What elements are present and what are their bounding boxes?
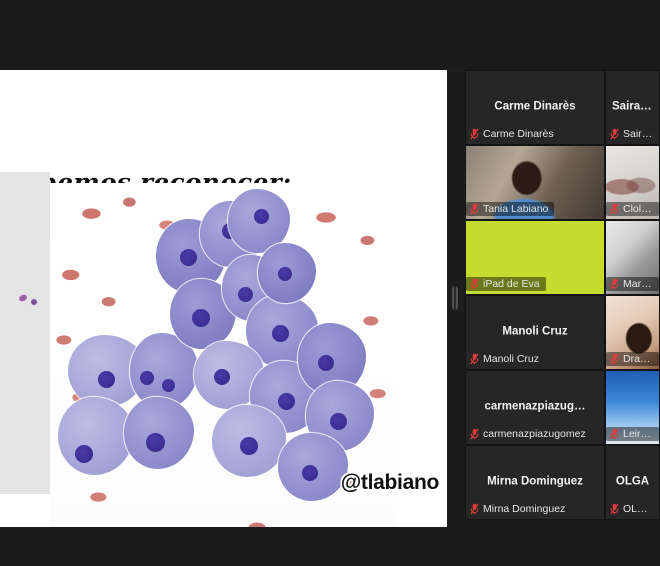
slide-left-panel (0, 172, 50, 494)
participant-tile[interactable]: Cloly Rivero (605, 145, 660, 220)
participant-display-name: Saira Ros (606, 100, 659, 112)
microphone-muted-icon (470, 353, 479, 365)
cell-nucleus (278, 267, 292, 281)
cell-nucleus (162, 379, 175, 392)
participant-name-label: Dra. Veróni (606, 352, 659, 366)
participant-name-label: Mariella Pin (606, 277, 659, 291)
shared-screen-region[interactable]: y debemos reconocer: (0, 70, 447, 527)
cell-nucleus (192, 309, 210, 327)
microphone-muted-icon (610, 428, 619, 440)
meeting-window: y debemos reconocer: (0, 0, 660, 566)
participant-name-label: Carme Dinarès (466, 127, 560, 141)
participant-name-label: carmenazpiazugomez (466, 427, 592, 441)
microphone-muted-icon (610, 278, 619, 290)
cell (58, 397, 134, 475)
participant-label-text: carmenazpiazugomez (483, 428, 586, 440)
participant-display-name: Carme Dinarès (466, 100, 604, 112)
cell-nucleus (330, 413, 347, 430)
participant-tile[interactable]: Tania Labiano (465, 145, 605, 220)
participant-label-text: Cloly Rivero (623, 203, 653, 215)
presentation-slide: y debemos reconocer: (0, 70, 447, 527)
panel-drag-handle[interactable] (452, 286, 458, 310)
slide-speck-2 (31, 299, 37, 305)
participant-label-text: Mariella Pin (623, 278, 653, 290)
participant-label-text: OLGA LUQ (623, 503, 653, 515)
bottom-letterbox-bar (0, 527, 660, 566)
microphone-muted-icon (470, 503, 479, 515)
slide-speck-1 (18, 294, 28, 303)
participant-label-text: Mirna Dominguez (483, 503, 565, 515)
participant-display-name: OLGA (606, 475, 659, 487)
microphone-muted-icon (470, 203, 479, 215)
cell-nucleus (278, 393, 295, 410)
cell-nucleus (98, 371, 115, 388)
cell-nucleus (254, 209, 269, 224)
cell-nucleus (140, 371, 154, 385)
participant-tile[interactable]: OLGAOLGA LUQ (605, 445, 660, 520)
cell-nucleus (238, 287, 253, 302)
participant-label-text: Carme Dinarès (483, 128, 554, 140)
participant-tile[interactable]: Leire Cid (605, 370, 660, 445)
participant-label-text: Tania Labiano (483, 203, 548, 215)
cell-nucleus (214, 369, 230, 385)
participant-name-label: Leire Cid (606, 427, 659, 441)
cell-nucleus (180, 249, 197, 266)
microphone-muted-icon (610, 203, 619, 215)
microphone-muted-icon (610, 503, 619, 515)
participant-tile[interactable]: Carme DinarèsCarme Dinarès (465, 70, 605, 145)
cell-nucleus (318, 355, 334, 371)
participant-display-name: carmenazpiazug… (466, 400, 604, 412)
participant-label-text: iPad de Eva (483, 278, 540, 290)
cell-nucleus (240, 437, 258, 455)
participant-tile[interactable]: Mariella Pin (605, 220, 660, 295)
participant-tile[interactable]: carmenazpiazug…carmenazpiazugomez (465, 370, 605, 445)
participant-label-text: Manoli Cruz (483, 353, 539, 365)
microphone-muted-icon (470, 428, 479, 440)
cell-nucleus (302, 465, 318, 481)
participant-tile[interactable]: iPad de Eva (465, 220, 605, 295)
watermark-handle: @tlabiano (341, 471, 439, 495)
cell-nucleus (272, 325, 289, 342)
participant-name-label: Manoli Cruz (466, 352, 545, 366)
participant-name-label: Saira Rosm (606, 127, 659, 141)
participant-name-label: OLGA LUQ (606, 502, 659, 516)
participant-tile[interactable]: Saira RosSaira Rosm (605, 70, 660, 145)
microphone-muted-icon (470, 278, 479, 290)
participant-name-label: Cloly Rivero (606, 202, 659, 216)
participant-display-name: Mirna Dominguez (466, 475, 604, 487)
participant-label-text: Dra. Veróni (623, 353, 653, 365)
microphone-muted-icon (610, 353, 619, 365)
microphone-muted-icon (470, 128, 479, 140)
participant-name-label: Tania Labiano (466, 202, 554, 216)
participant-gallery[interactable]: Carme DinarèsCarme DinarèsSaira RosSaira… (465, 70, 660, 530)
participant-name-label: iPad de Eva (466, 277, 546, 291)
participant-tile[interactable]: Manoli CruzManoli Cruz (465, 295, 605, 370)
microphone-muted-icon (610, 128, 619, 140)
participant-tile[interactable]: Dra. Veróni (605, 295, 660, 370)
participant-display-name: Manoli Cruz (466, 325, 604, 337)
cell-nucleus (75, 445, 93, 463)
participant-label-text: Saira Rosm (623, 128, 653, 140)
participant-name-label: Mirna Dominguez (466, 502, 571, 516)
top-letterbox-bar (0, 0, 660, 70)
cell-nucleus (146, 433, 165, 452)
participant-label-text: Leire Cid (623, 428, 653, 440)
participant-tile[interactable]: Mirna DominguezMirna Dominguez (465, 445, 605, 520)
